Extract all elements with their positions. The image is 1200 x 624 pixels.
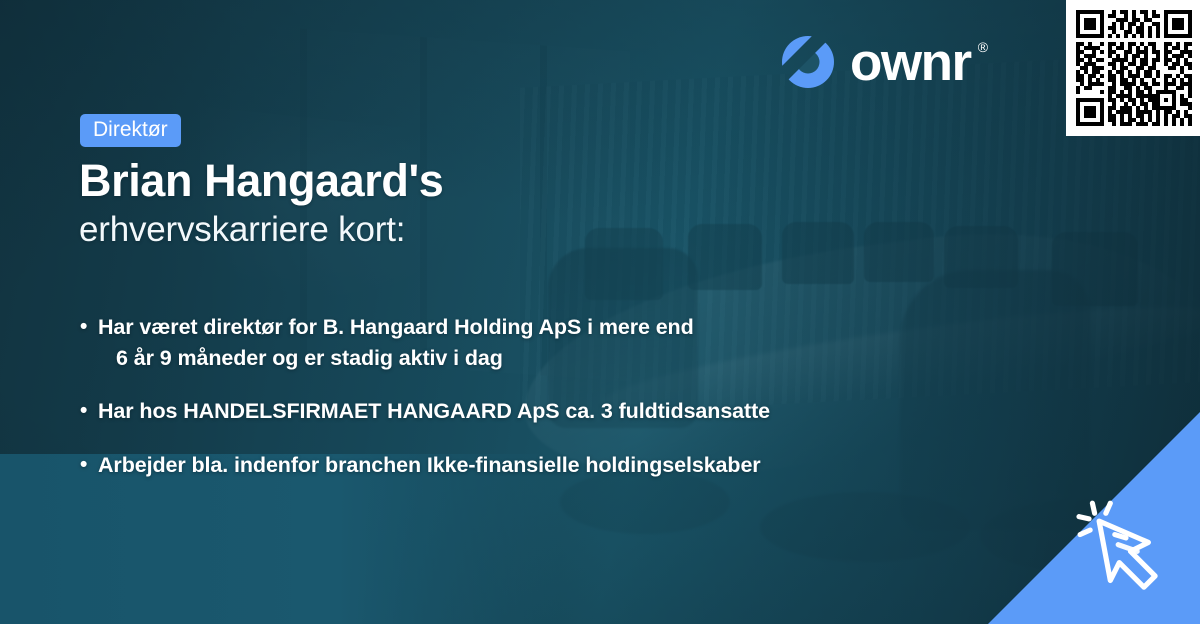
bullet-marker: • [80,450,98,480]
bullet-marker: • [80,312,98,342]
list-item-line1: Har været direktør for B. Hangaard Holdi… [98,315,694,339]
list-item: • Har hos HANDELSFIRMAET HANGAARD ApS ca… [80,396,1080,427]
list-item-text: Har været direktør for B. Hangaard Holdi… [98,312,694,374]
list-item-line1: Arbejder bla. indenfor branchen Ikke-fin… [98,453,761,477]
list-item-text: Har hos HANDELSFIRMAET HANGAARD ApS ca. … [98,396,770,427]
list-item-line2: 6 år 9 måneder og er stadig aktiv i dag [98,343,694,374]
list-item-text: Arbejder bla. indenfor branchen Ikke-fin… [98,450,761,481]
ownr-wordmark: ownr ® [850,36,987,89]
click-cursor-icon [1070,492,1182,604]
page-title: Brian Hangaard's [79,157,443,204]
list-item: • Arbejder bla. indenfor branchen Ikke-f… [80,450,1080,481]
registered-trademark-mark: ® [978,40,987,54]
list-item: • Har været direktør for B. Hangaard Hol… [80,312,1080,374]
ownr-logo[interactable]: ownr ® [780,34,987,90]
status-badge: Direktør [80,114,181,147]
bullet-marker: • [80,396,98,426]
qr-code-panel[interactable] [1066,0,1200,136]
ownr-circle-logo-icon [780,34,836,90]
list-item-line1: Har hos HANDELSFIRMAET HANGAARD ApS ca. … [98,399,770,423]
ownr-wordmark-text: ownr [850,33,971,92]
qr-code[interactable] [1076,9,1192,127]
page-subtitle: erhvervskarriere kort: [79,211,405,250]
ownr-career-card: ownr ® Direktør Brian Hangaard's erhverv… [0,0,1200,624]
career-facts-list: • Har været direktør for B. Hangaard Hol… [80,312,1080,503]
